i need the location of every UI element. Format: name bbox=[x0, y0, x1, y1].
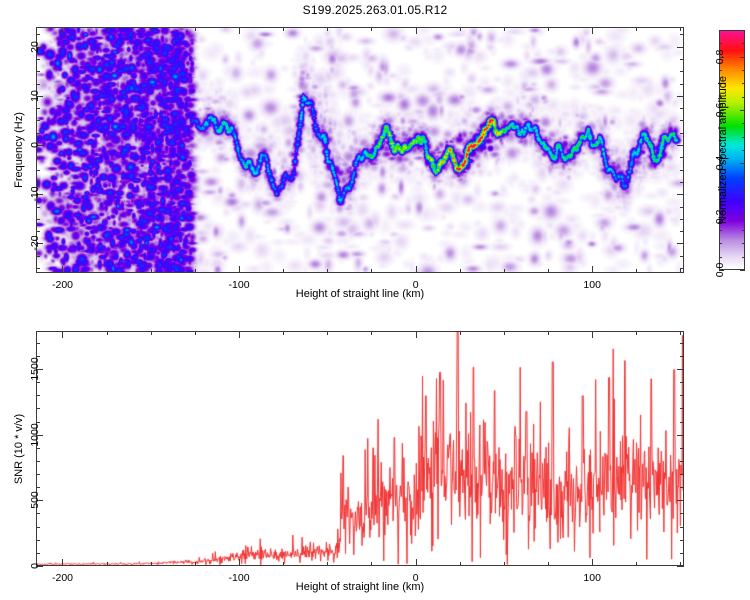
axis-tick bbox=[36, 71, 40, 72]
axis-tick bbox=[36, 34, 40, 35]
axis-tick bbox=[327, 269, 328, 273]
snr-y-axis-title: SNR (10 * v/v) bbox=[13, 414, 25, 484]
axis-tick bbox=[680, 448, 684, 449]
axis-tick bbox=[677, 369, 684, 370]
axis-tick bbox=[371, 562, 372, 566]
axis-tick bbox=[548, 269, 549, 273]
axis-tick bbox=[680, 170, 684, 171]
axis-tick bbox=[680, 395, 684, 396]
axis-tick bbox=[62, 27, 63, 34]
axis-tick bbox=[239, 331, 240, 338]
axis-tick bbox=[416, 266, 417, 273]
axis-tick bbox=[719, 70, 722, 71]
axis-tick bbox=[36, 84, 40, 85]
axis-tick bbox=[36, 59, 40, 60]
snr-x-axis-title: Height of straight line (km) bbox=[296, 581, 424, 593]
axis-tick bbox=[36, 343, 40, 344]
axis-tick bbox=[151, 562, 152, 566]
axis-tick bbox=[151, 27, 152, 31]
axis-tick bbox=[151, 269, 152, 273]
axis-tick bbox=[107, 562, 108, 566]
axis-tick bbox=[742, 257, 745, 258]
axis-tick bbox=[680, 422, 684, 423]
axis-tick bbox=[416, 331, 417, 338]
axis-tick bbox=[680, 207, 684, 208]
axis-tick bbox=[36, 382, 40, 383]
axis-tick bbox=[680, 356, 684, 357]
axis-tick bbox=[283, 562, 284, 566]
axis-tick bbox=[36, 157, 40, 158]
axis-tick bbox=[680, 231, 684, 232]
axis-tick bbox=[680, 59, 684, 60]
axis-tick bbox=[195, 27, 196, 31]
axis-tick bbox=[719, 57, 722, 58]
axis-tick bbox=[592, 266, 593, 273]
axis-tick bbox=[239, 559, 240, 566]
axis-tick bbox=[742, 83, 745, 84]
axis-tick bbox=[592, 559, 593, 566]
axis-tick bbox=[504, 331, 505, 335]
axis-tick bbox=[36, 474, 40, 475]
axis-tick bbox=[416, 27, 417, 34]
axis-tick bbox=[680, 343, 684, 344]
spectrogram-image bbox=[37, 28, 683, 272]
axis-tick bbox=[36, 540, 40, 541]
axis-tick bbox=[740, 270, 745, 271]
axis-tick bbox=[62, 559, 63, 566]
axis-tick bbox=[195, 331, 196, 335]
axis-tick bbox=[36, 408, 40, 409]
axis-tick bbox=[36, 182, 40, 183]
axis-tick bbox=[36, 170, 40, 171]
axis-tick bbox=[548, 331, 549, 335]
axis-tick bbox=[677, 435, 684, 436]
axis-tick bbox=[504, 27, 505, 31]
snr-y-tick-label: 1500 bbox=[29, 357, 41, 380]
axis-tick bbox=[36, 268, 40, 269]
axis-tick bbox=[36, 395, 40, 396]
axis-tick bbox=[327, 27, 328, 31]
axis-tick bbox=[677, 194, 684, 195]
spectrogram-y-tick-label: 0 bbox=[29, 142, 41, 148]
axis-tick bbox=[195, 269, 196, 273]
axis-tick bbox=[680, 487, 684, 488]
snr-y-tick-label: 0 bbox=[29, 563, 41, 569]
axis-tick bbox=[677, 96, 684, 97]
axis-tick bbox=[636, 331, 637, 335]
axis-tick bbox=[460, 562, 461, 566]
axis-tick bbox=[62, 331, 63, 338]
axis-tick bbox=[283, 331, 284, 335]
axis-tick bbox=[36, 120, 40, 121]
axis-tick bbox=[36, 256, 40, 257]
axis-tick bbox=[680, 513, 684, 514]
axis-tick bbox=[36, 108, 40, 109]
axis-tick bbox=[680, 84, 684, 85]
axis-tick bbox=[742, 243, 745, 244]
axis-tick bbox=[680, 108, 684, 109]
axis-tick bbox=[636, 562, 637, 566]
axis-tick bbox=[680, 382, 684, 383]
axis-tick bbox=[107, 331, 108, 335]
axis-tick bbox=[677, 47, 684, 48]
axis-tick bbox=[283, 27, 284, 31]
colorbar-tick-label: 0.0 bbox=[714, 263, 726, 278]
spectrogram-x-tick-label: -100 bbox=[229, 279, 250, 291]
axis-tick bbox=[680, 219, 684, 220]
axis-tick bbox=[680, 408, 684, 409]
axis-tick bbox=[742, 123, 745, 124]
spectrogram-y-tick-label: -20 bbox=[29, 236, 41, 251]
axis-tick bbox=[460, 331, 461, 335]
axis-tick bbox=[680, 27, 681, 31]
axis-tick bbox=[36, 527, 40, 528]
axis-tick bbox=[742, 110, 745, 111]
axis-tick bbox=[636, 27, 637, 31]
axis-tick bbox=[36, 207, 40, 208]
axis-tick bbox=[107, 27, 108, 31]
axis-tick bbox=[283, 269, 284, 273]
spectrogram-y-tick-label: 20 bbox=[29, 41, 41, 53]
axis-tick bbox=[680, 540, 684, 541]
axis-tick bbox=[680, 269, 681, 273]
figure-title: S199.2025.263.01.05.R12 bbox=[0, 3, 750, 17]
axis-tick bbox=[460, 269, 461, 273]
axis-tick bbox=[719, 230, 722, 231]
axis-tick bbox=[677, 145, 684, 146]
axis-tick bbox=[742, 57, 745, 58]
axis-tick bbox=[592, 331, 593, 338]
axis-tick bbox=[680, 461, 684, 462]
axis-tick bbox=[742, 150, 745, 151]
axis-tick bbox=[719, 257, 722, 258]
figure-canvas: S199.2025.263.01.05.R12 -200-1000100-20-… bbox=[0, 0, 750, 600]
snr-line-plot bbox=[37, 332, 683, 565]
axis-tick bbox=[680, 120, 684, 121]
axis-tick bbox=[742, 137, 745, 138]
axis-tick bbox=[680, 256, 684, 257]
axis-tick bbox=[680, 527, 684, 528]
axis-tick bbox=[636, 269, 637, 273]
axis-tick bbox=[680, 34, 684, 35]
axis-tick bbox=[62, 266, 63, 273]
axis-tick bbox=[592, 27, 593, 34]
axis-tick bbox=[195, 562, 196, 566]
axis-tick bbox=[677, 243, 684, 244]
axis-tick bbox=[36, 133, 40, 134]
axis-tick bbox=[742, 70, 745, 71]
snr-y-tick-label: 500 bbox=[29, 492, 41, 510]
spectrogram-y-axis-title: Frequency (Hz) bbox=[13, 112, 25, 188]
snr-x-tick-label: 100 bbox=[583, 572, 601, 584]
axis-tick bbox=[327, 331, 328, 335]
axis-tick bbox=[719, 243, 722, 244]
axis-tick bbox=[677, 566, 684, 567]
axis-tick bbox=[677, 500, 684, 501]
axis-tick bbox=[742, 203, 745, 204]
axis-tick bbox=[680, 182, 684, 183]
spectrogram-x-tick-label: 100 bbox=[583, 279, 601, 291]
colorbar-title: Normalized spectral amplitude bbox=[717, 76, 729, 224]
spectrogram-x-tick-label: -200 bbox=[52, 279, 73, 291]
snr-x-tick-label: -100 bbox=[229, 572, 250, 584]
axis-tick bbox=[742, 43, 745, 44]
axis-tick bbox=[371, 269, 372, 273]
snr-x-tick-label: -200 bbox=[52, 572, 73, 584]
axis-tick bbox=[239, 266, 240, 273]
axis-tick bbox=[742, 163, 745, 164]
axis-tick bbox=[36, 487, 40, 488]
axis-tick bbox=[36, 553, 40, 554]
axis-tick bbox=[742, 177, 745, 178]
spectrogram-y-tick-label: 10 bbox=[29, 90, 41, 102]
axis-tick bbox=[680, 474, 684, 475]
axis-tick bbox=[742, 97, 745, 98]
axis-tick bbox=[680, 133, 684, 134]
axis-tick bbox=[151, 331, 152, 335]
axis-tick bbox=[36, 448, 40, 449]
axis-tick bbox=[239, 27, 240, 34]
spectrogram-x-axis-title: Height of straight line (km) bbox=[296, 288, 424, 300]
axis-tick bbox=[504, 269, 505, 273]
axis-tick bbox=[680, 331, 681, 335]
snr-y-tick-label: 1000 bbox=[29, 423, 41, 446]
axis-tick bbox=[742, 217, 745, 218]
spectrogram-panel bbox=[36, 27, 684, 273]
axis-tick bbox=[548, 27, 549, 31]
axis-tick bbox=[371, 27, 372, 31]
axis-tick bbox=[548, 562, 549, 566]
axis-tick bbox=[680, 71, 684, 72]
axis-tick bbox=[371, 331, 372, 335]
spectrogram-y-tick-label: -10 bbox=[29, 187, 41, 202]
axis-tick bbox=[504, 562, 505, 566]
axis-tick bbox=[460, 27, 461, 31]
axis-tick bbox=[107, 269, 108, 273]
axis-tick bbox=[36, 461, 40, 462]
axis-tick bbox=[36, 513, 40, 514]
axis-tick bbox=[719, 43, 722, 44]
axis-tick bbox=[680, 268, 684, 269]
axis-tick bbox=[742, 230, 745, 231]
axis-tick bbox=[36, 231, 40, 232]
axis-tick bbox=[680, 157, 684, 158]
axis-tick bbox=[416, 559, 417, 566]
axis-tick bbox=[327, 562, 328, 566]
axis-tick bbox=[680, 553, 684, 554]
snr-panel bbox=[36, 331, 684, 566]
axis-tick bbox=[742, 190, 745, 191]
axis-tick bbox=[36, 219, 40, 220]
